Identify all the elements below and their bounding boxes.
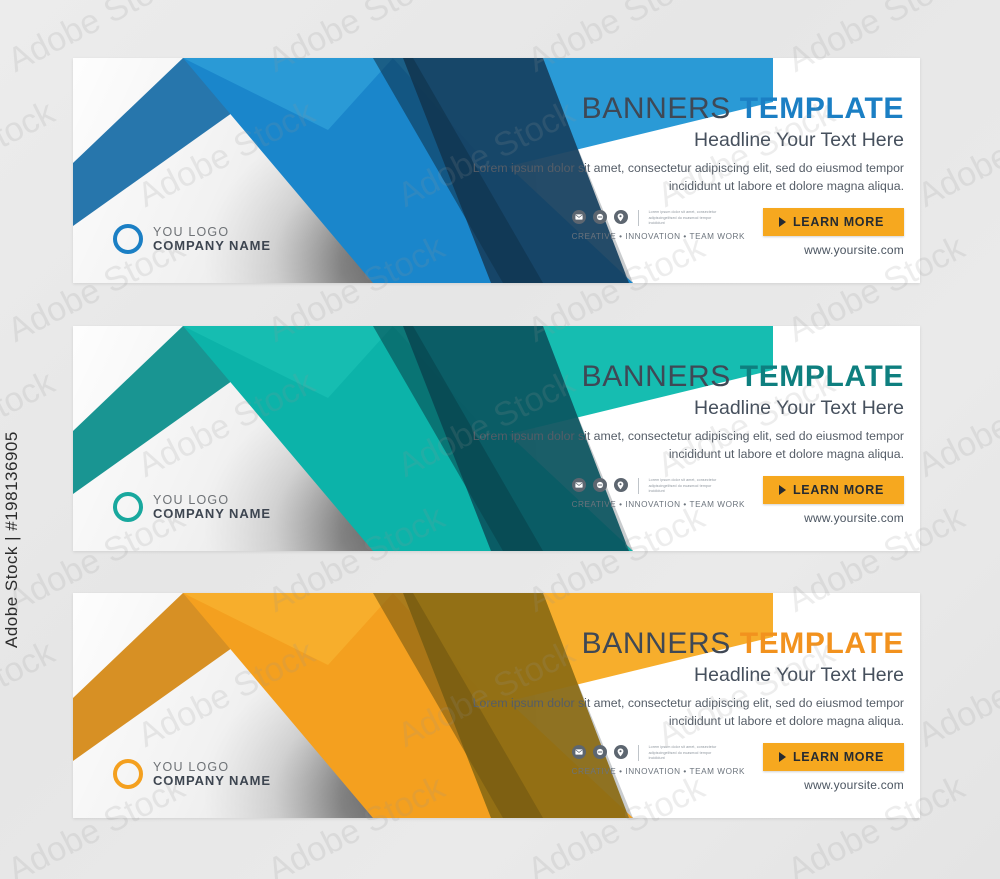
logo-line-2: COMPANY NAME xyxy=(153,239,271,254)
learn-more-button[interactable]: LEARN MORE xyxy=(763,476,904,504)
location-pin-icon[interactable] xyxy=(614,478,628,492)
title-main: BANNERS xyxy=(582,92,740,125)
title-main: BANNERS xyxy=(582,627,740,660)
logo-line-2: COMPANY NAME xyxy=(153,507,271,522)
website-link[interactable]: www.yoursite.com xyxy=(763,511,904,525)
envelope-icon[interactable] xyxy=(572,478,586,492)
phone-icon[interactable] xyxy=(593,210,607,224)
play-triangle-icon xyxy=(779,752,786,762)
vertical-divider xyxy=(638,478,639,494)
learn-more-label: LEARN MORE xyxy=(793,483,884,497)
play-triangle-icon xyxy=(779,217,786,227)
logo-block[interactable]: YOU LOGO COMPANY NAME xyxy=(113,759,271,789)
banner-bottom-row: Lorem ipsum dolor sit amet, consectetur … xyxy=(434,743,904,792)
subtitle: Headline Your Text Here xyxy=(434,665,904,686)
logo-ring-icon xyxy=(113,224,143,254)
website-link[interactable]: www.yoursite.com xyxy=(763,778,904,792)
vertical-divider xyxy=(638,745,639,761)
phone-icon[interactable] xyxy=(593,478,607,492)
subtitle: Headline Your Text Here xyxy=(434,398,904,419)
info-block: Lorem ipsum dolor sit amet, consectetur … xyxy=(572,476,745,508)
logo-text: YOU LOGO COMPANY NAME xyxy=(153,225,271,254)
info-block: Lorem ipsum dolor sit amet, consectetur … xyxy=(572,743,745,775)
title-main: BANNERS xyxy=(582,360,740,393)
learn-more-label: LEARN MORE xyxy=(793,750,884,764)
banner-card-blue[interactable]: YOU LOGO COMPANY NAME BANNERS TEMPLATE H… xyxy=(73,58,920,283)
tagline: CREATIVE • INNOVATION • TEAM WORK xyxy=(572,767,745,776)
banner-content: BANNERS TEMPLATE Headline Your Text Here… xyxy=(434,94,904,257)
title-accent: TEMPLATE xyxy=(740,627,904,660)
logo-text: YOU LOGO COMPANY NAME xyxy=(153,760,271,789)
title-accent: TEMPLATE xyxy=(740,92,904,125)
page-title: BANNERS TEMPLATE xyxy=(434,94,904,124)
stock-credit-label: Adobe Stock | #198136905 xyxy=(2,408,22,648)
banner-card-orange[interactable]: YOU LOGO COMPANY NAME BANNERS TEMPLATE H… xyxy=(73,593,920,818)
logo-ring-icon xyxy=(113,759,143,789)
learn-more-button[interactable]: LEARN MORE xyxy=(763,208,904,236)
learn-more-label: LEARN MORE xyxy=(793,215,884,229)
logo-ring-icon xyxy=(113,492,143,522)
icon-row: Lorem ipsum dolor sit amet, consectetur … xyxy=(572,745,745,761)
location-pin-icon[interactable] xyxy=(614,210,628,224)
page-title: BANNERS TEMPLATE xyxy=(434,362,904,392)
website-link[interactable]: www.yoursite.com xyxy=(763,243,904,257)
micro-text: Lorem ipsum dolor sit amet, consectetur … xyxy=(649,478,721,494)
phone-icon[interactable] xyxy=(593,745,607,759)
vertical-divider xyxy=(638,210,639,226)
location-pin-icon[interactable] xyxy=(614,745,628,759)
cta-block: LEARN MORE www.yoursite.com xyxy=(763,743,904,792)
icon-row: Lorem ipsum dolor sit amet, consectetur … xyxy=(572,210,745,226)
logo-line-1: YOU LOGO xyxy=(153,493,271,507)
logo-line-1: YOU LOGO xyxy=(153,225,271,239)
micro-text: Lorem ipsum dolor sit amet, consectetur … xyxy=(649,210,721,226)
cta-block: LEARN MORE www.yoursite.com xyxy=(763,476,904,525)
envelope-icon[interactable] xyxy=(572,210,586,224)
tagline: CREATIVE • INNOVATION • TEAM WORK xyxy=(572,232,745,241)
banner-content: BANNERS TEMPLATE Headline Your Text Here… xyxy=(434,629,904,792)
banner-bottom-row: Lorem ipsum dolor sit amet, consectetur … xyxy=(434,208,904,257)
icon-row: Lorem ipsum dolor sit amet, consectetur … xyxy=(572,478,745,494)
cta-block: LEARN MORE www.yoursite.com xyxy=(763,208,904,257)
page-title: BANNERS TEMPLATE xyxy=(434,629,904,659)
play-triangle-icon xyxy=(779,485,786,495)
banner-card-teal[interactable]: YOU LOGO COMPANY NAME BANNERS TEMPLATE H… xyxy=(73,326,920,551)
body-paragraph: Lorem ipsum dolor sit amet, consectetur … xyxy=(434,160,904,195)
envelope-icon[interactable] xyxy=(572,745,586,759)
body-paragraph: Lorem ipsum dolor sit amet, consectetur … xyxy=(434,695,904,730)
learn-more-button[interactable]: LEARN MORE xyxy=(763,743,904,771)
logo-block[interactable]: YOU LOGO COMPANY NAME xyxy=(113,224,271,254)
logo-block[interactable]: YOU LOGO COMPANY NAME xyxy=(113,492,271,522)
banner-content: BANNERS TEMPLATE Headline Your Text Here… xyxy=(434,362,904,525)
title-accent: TEMPLATE xyxy=(740,360,904,393)
subtitle: Headline Your Text Here xyxy=(434,130,904,151)
logo-line-1: YOU LOGO xyxy=(153,760,271,774)
banner-bottom-row: Lorem ipsum dolor sit amet, consectetur … xyxy=(434,476,904,525)
logo-line-2: COMPANY NAME xyxy=(153,774,271,789)
info-block: Lorem ipsum dolor sit amet, consectetur … xyxy=(572,208,745,240)
body-paragraph: Lorem ipsum dolor sit amet, consectetur … xyxy=(434,428,904,463)
logo-text: YOU LOGO COMPANY NAME xyxy=(153,493,271,522)
tagline: CREATIVE • INNOVATION • TEAM WORK xyxy=(572,500,745,509)
micro-text: Lorem ipsum dolor sit amet, consectetur … xyxy=(649,745,721,761)
